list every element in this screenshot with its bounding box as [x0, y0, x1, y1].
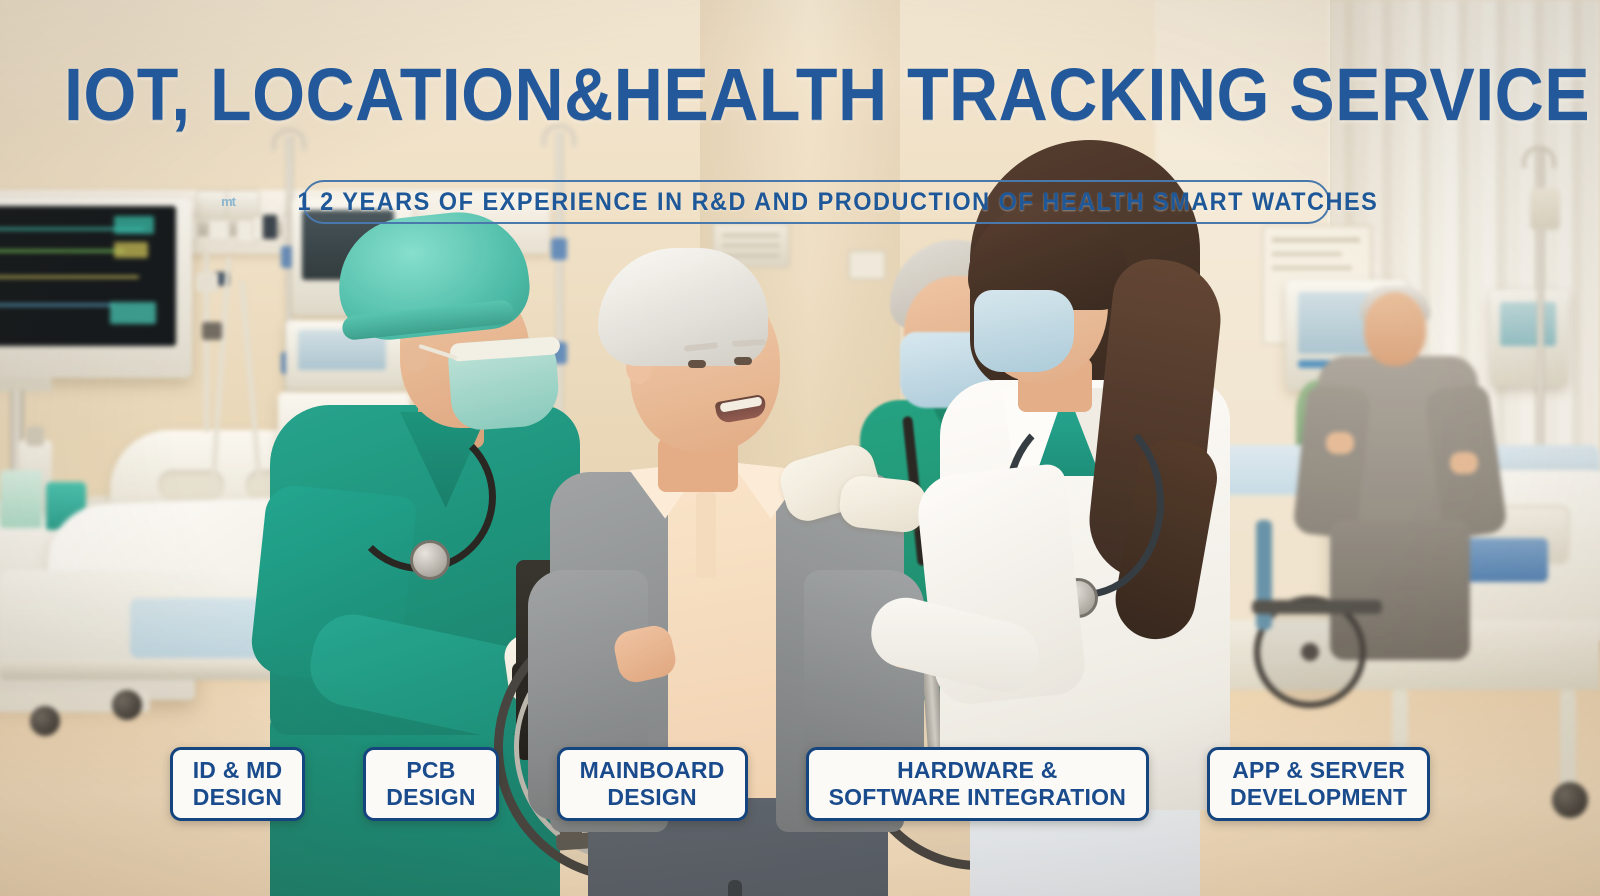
badge-line-2: SOFTWARE INTEGRATION [829, 784, 1126, 811]
badge-mainboard-design[interactable]: MAINBOARD DESIGN [557, 747, 748, 821]
badge-line-2: DESIGN [607, 784, 696, 811]
badge-hardware-software-integration[interactable]: HARDWARE & SOFTWARE INTEGRATION [806, 747, 1149, 821]
badge-app-server-development[interactable]: APP & SERVER DEVELOPMENT [1207, 747, 1430, 821]
badge-line-2: DEVELOPMENT [1230, 784, 1407, 811]
badge-line-1: PCB [406, 757, 455, 784]
page-title: IOT, LOCATION&HEALTH TRACKING SERVICE PR… [64, 58, 1536, 132]
hero-banner: IOT, LOCATION&HEALTH TRACKING SERVICE PR… [0, 0, 1600, 896]
badge-line-2: DESIGN [193, 784, 282, 811]
subtitle-text: 1 2 YEARS OF EXPERIENCE IN R&D AND PRODU… [298, 188, 1379, 217]
brand-watermark-icon: mt [219, 191, 253, 213]
badge-line-1: HARDWARE & [897, 757, 1057, 784]
badge-line-1: APP & SERVER [1232, 757, 1405, 784]
service-badges: ID & MD DESIGN PCB DESIGN MAINBOARD DESI… [0, 747, 1600, 821]
badge-line-1: MAINBOARD [580, 757, 725, 784]
subtitle-pill: mt 1 2 YEARS OF EXPERIENCE IN R&D AND PR… [302, 180, 1330, 224]
badge-id-md-design[interactable]: ID & MD DESIGN [170, 747, 306, 821]
brand-watermark-text: mt [221, 194, 235, 209]
badge-pcb-design[interactable]: PCB DESIGN [363, 747, 498, 821]
badge-line-2: DESIGN [386, 784, 475, 811]
badge-line-1: ID & MD [193, 757, 283, 784]
